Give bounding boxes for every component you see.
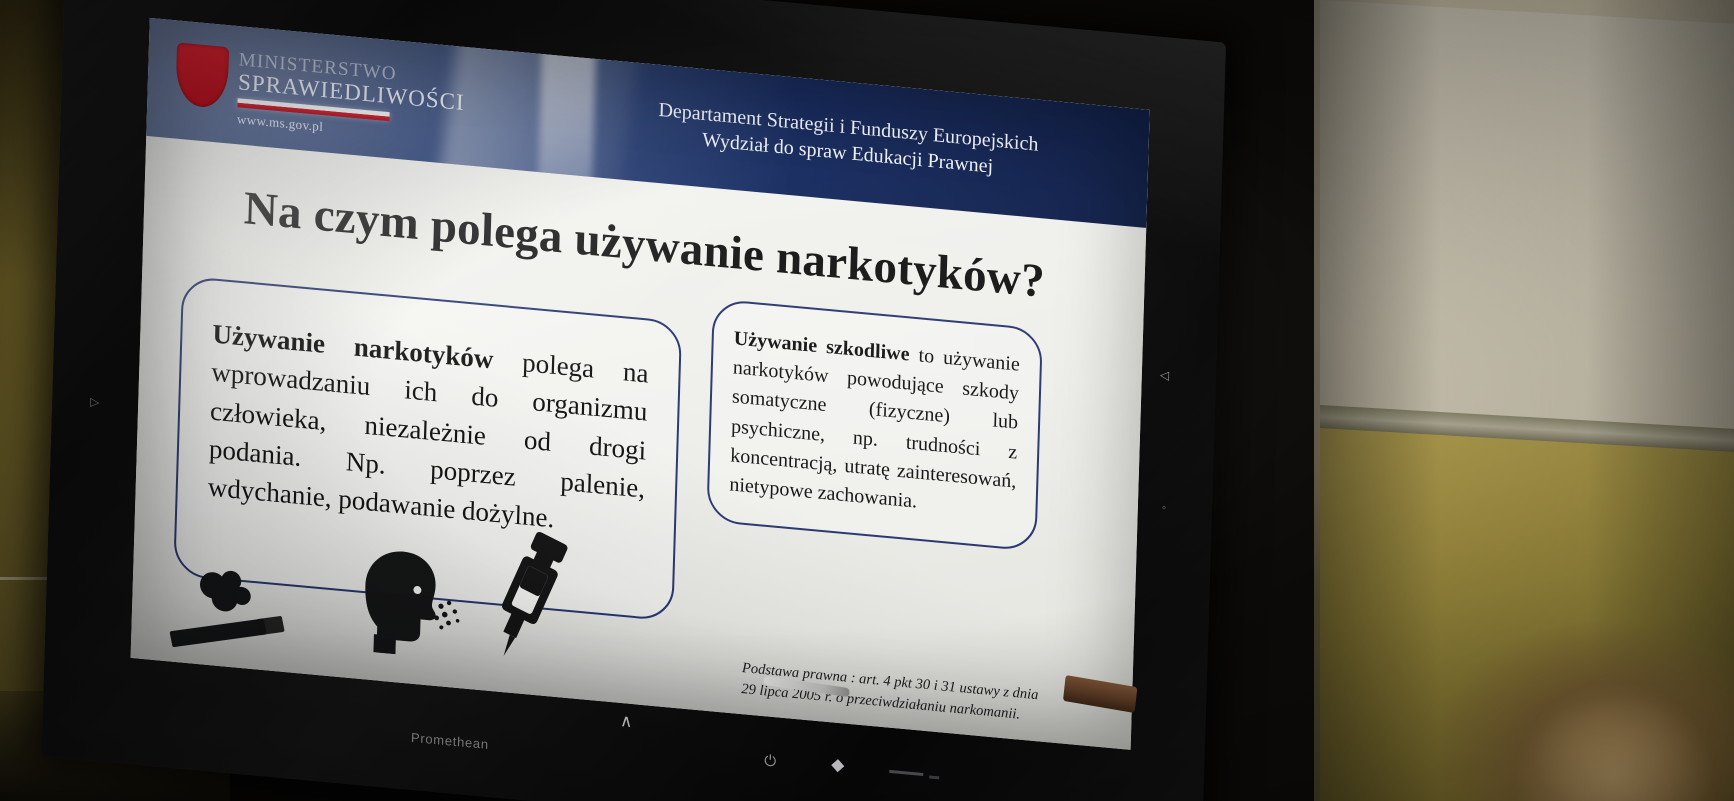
- display-screen[interactable]: 🇂 MINISTERSTWO SPRAWIEDLIWOŚCI www.ms.go…: [131, 18, 1150, 750]
- side-marker-icon[interactable]: ◦: [1162, 500, 1167, 515]
- photo-scene: ▷ ◁ ◦ 🇂 MINISTERSTWO SPRAWIEDLIWOŚCI: [0, 0, 1734, 801]
- syringe-icon: [471, 525, 585, 671]
- interactive-display[interactable]: ▷ ◁ ◦ 🇂 MINISTERSTWO SPRAWIEDLIWOŚCI: [41, 0, 1226, 801]
- sensor-bar-secondary: [929, 776, 939, 780]
- power-icon[interactable]: ⏻: [764, 752, 776, 770]
- sensor-bar: [889, 770, 923, 776]
- side-chevron-right-icon[interactable]: ◁: [1160, 368, 1170, 384]
- brand-label: Promethean: [411, 730, 489, 752]
- cigarette-smoke-icon: [167, 563, 320, 669]
- department-heading: Departament Strategii i Funduszy Europej…: [657, 98, 1038, 184]
- definition-box-harmful: Używanie szkodliwe to używanie narkotykó…: [706, 298, 1043, 551]
- side-chevron-left-icon[interactable]: ▷: [90, 394, 100, 410]
- definition-box-usage-body: polega na wprowadzaniu ich do organizmu …: [207, 344, 648, 533]
- ministry-logo: 🇂 MINISTERSTWO SPRAWIEDLIWOŚCI www.ms.go…: [147, 37, 466, 145]
- caret-up-icon[interactable]: ∧: [620, 711, 633, 732]
- definition-box-harmful-body: to używanie narkotyków powodujące szkody…: [729, 344, 1020, 513]
- floor-clutter-secondary: [1514, 681, 1714, 801]
- ministry-text: MINISTERSTWO SPRAWIEDLIWOŚCI www.ms.gov.…: [237, 48, 466, 146]
- head-inhaling-icon: [343, 539, 464, 660]
- polish-eagle-emblem: 🇂: [175, 42, 229, 109]
- indicator-dot-icon: ◆: [831, 754, 845, 775]
- presentation-slide[interactable]: 🇂 MINISTERSTWO SPRAWIEDLIWOŚCI www.ms.go…: [131, 18, 1150, 750]
- eagle-glyph: 🇂: [202, 56, 203, 96]
